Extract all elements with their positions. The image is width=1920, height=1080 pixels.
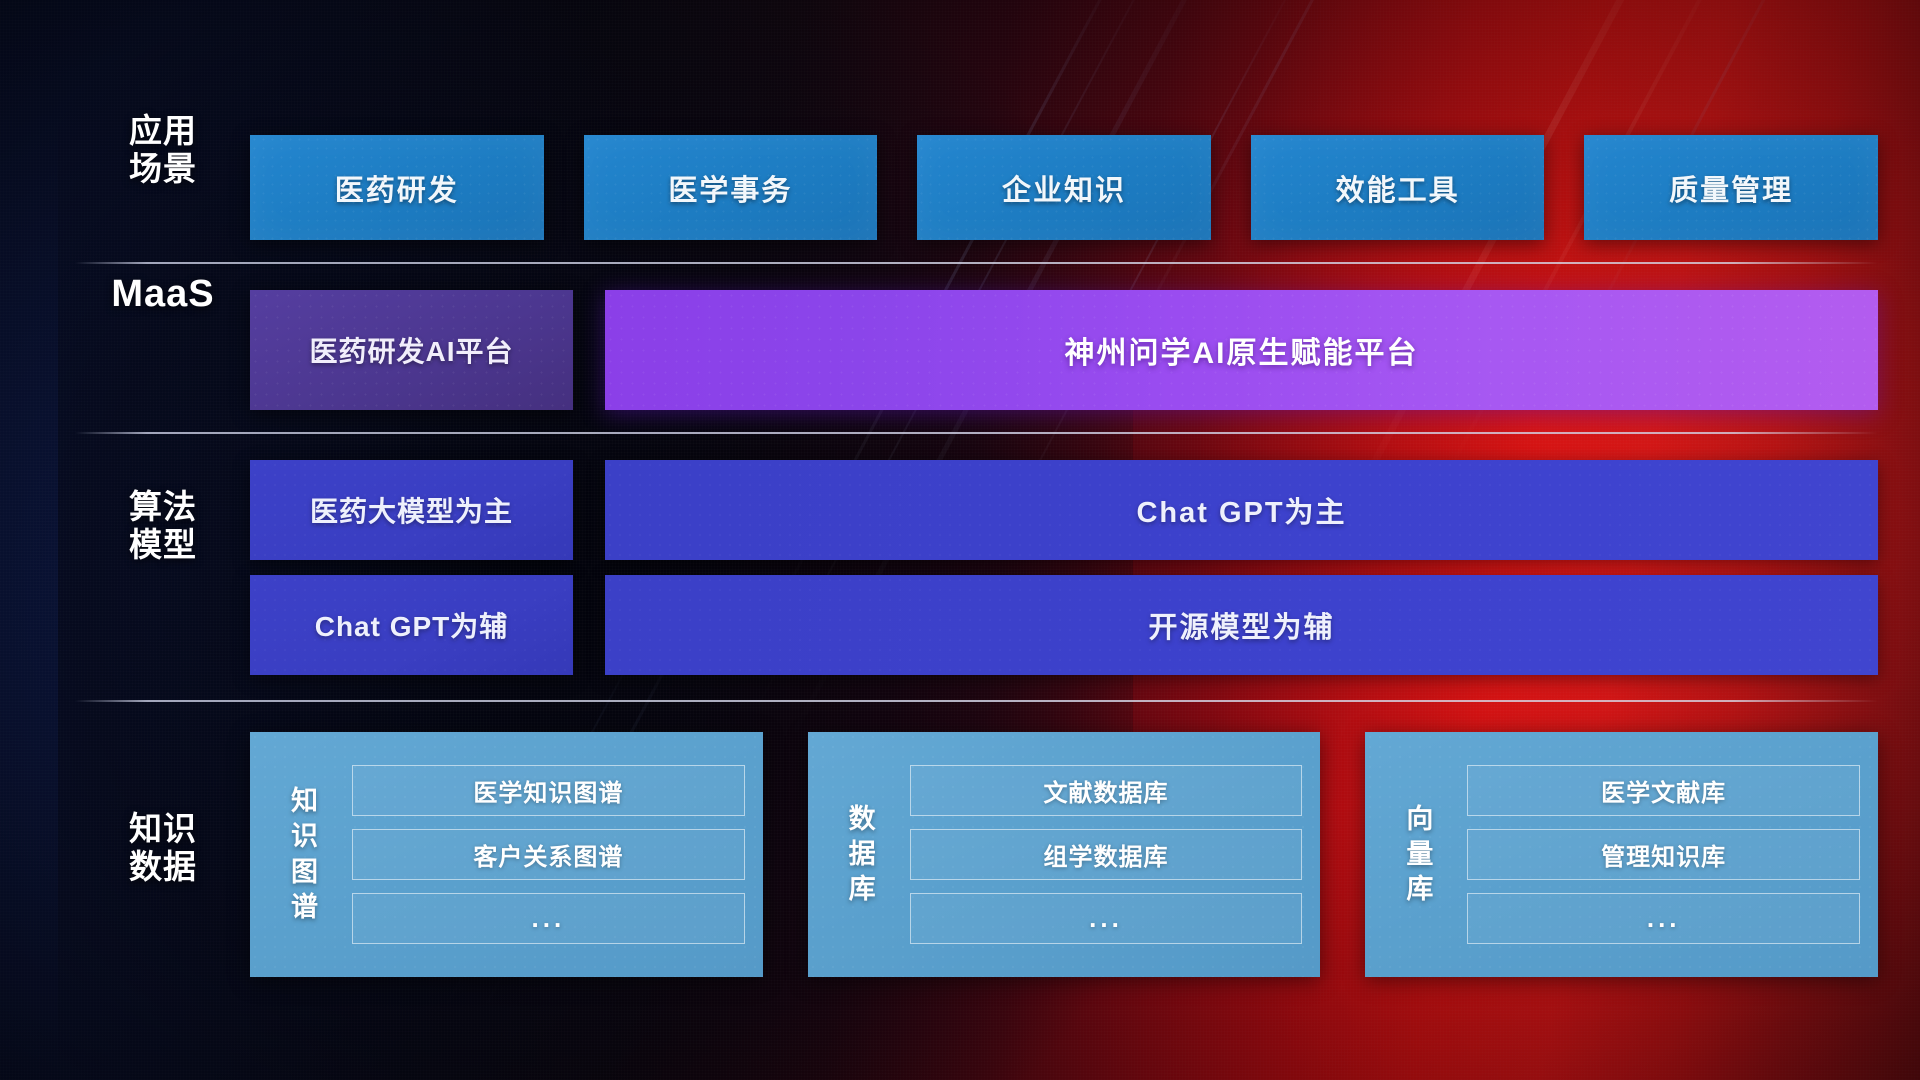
app-box-quality-management[interactable]: 质量管理 <box>1584 135 1878 240</box>
row-divider-1 <box>75 262 1878 264</box>
algo-box-chatgpt-secondary[interactable]: Chat GPT为辅 <box>250 575 573 675</box>
maas-box-pharma-ai-platform[interactable]: 医药研发AI平台 <box>250 290 573 410</box>
knowledge-panel-knowledge-graph: 知 识 图 谱 医学知识图谱 客户关系图谱 ... <box>250 732 763 977</box>
row-label-algorithm-models: 算法 模型 <box>78 488 248 565</box>
app-box-label: 效能工具 <box>1336 167 1460 209</box>
app-box-enterprise-knowledge[interactable]: 企业知识 <box>917 135 1211 240</box>
app-box-label: 医学事务 <box>668 167 792 209</box>
knowledge-item[interactable]: 文献数据库 <box>910 765 1303 816</box>
app-box-label: 质量管理 <box>1669 167 1793 209</box>
algo-box-label: 医药大模型为主 <box>310 490 513 530</box>
app-box-pharma-rnd[interactable]: 医药研发 <box>250 135 544 240</box>
app-box-efficiency-tools[interactable]: 效能工具 <box>1251 135 1545 240</box>
row-label-application-scenarios: 应用 场景 <box>78 112 248 189</box>
algo-box-chatgpt-primary[interactable]: Chat GPT为主 <box>605 460 1878 560</box>
row-label-knowledge-data: 知识 数据 <box>78 810 248 887</box>
knowledge-item-list: 文献数据库 组学数据库 ... <box>910 765 1303 944</box>
app-box-label: 医药研发 <box>335 167 459 209</box>
maas-box-shenzhou-wenxue-platform[interactable]: 神州问学AI原生赋能平台 <box>605 290 1878 410</box>
algo-box-label: Chat GPT为主 <box>1136 489 1346 531</box>
knowledge-panel-title: 知 识 图 谱 <box>274 784 336 924</box>
knowledge-item[interactable]: 客户关系图谱 <box>352 829 745 880</box>
knowledge-item-more[interactable]: ... <box>1467 893 1860 944</box>
algo-box-pharma-large-model-primary[interactable]: 医药大模型为主 <box>250 460 573 560</box>
row-label-maas: MaaS <box>78 272 248 316</box>
architecture-diagram: 应用 场景 医药研发 医学事务 企业知识 效能工具 质量管理 MaaS 医药研发… <box>0 0 1920 1080</box>
knowledge-item-list: 医学文献库 管理知识库 ... <box>1467 765 1860 944</box>
row-divider-3 <box>75 700 1878 702</box>
algorithm-models-row: 医药大模型为主 Chat GPT为主 Chat GPT为辅 开源模型为辅 <box>250 460 1878 675</box>
algo-box-label: 开源模型为辅 <box>1148 604 1334 646</box>
algorithm-line-primary: 医药大模型为主 Chat GPT为主 <box>250 460 1878 560</box>
maas-row: 医药研发AI平台 神州问学AI原生赋能平台 <box>250 290 1878 410</box>
application-scenarios-row: 医药研发 医学事务 企业知识 效能工具 质量管理 <box>250 135 1878 240</box>
knowledge-panel-title: 向 量 库 <box>1389 802 1451 907</box>
knowledge-item[interactable]: 管理知识库 <box>1467 829 1860 880</box>
knowledge-panel-database: 数 据 库 文献数据库 组学数据库 ... <box>808 732 1321 977</box>
knowledge-item-more[interactable]: ... <box>910 893 1303 944</box>
knowledge-item-more[interactable]: ... <box>352 893 745 944</box>
maas-box-label: 医药研发AI平台 <box>309 330 513 370</box>
knowledge-panel-title: 数 据 库 <box>832 802 894 907</box>
algorithm-line-secondary: Chat GPT为辅 开源模型为辅 <box>250 575 1878 675</box>
knowledge-panel-vector-store: 向 量 库 医学文献库 管理知识库 ... <box>1365 732 1878 977</box>
knowledge-item[interactable]: 医学文献库 <box>1467 765 1860 816</box>
knowledge-item[interactable]: 医学知识图谱 <box>352 765 745 816</box>
app-box-label: 企业知识 <box>1002 167 1126 209</box>
app-box-medical-affairs[interactable]: 医学事务 <box>584 135 878 240</box>
algo-box-label: Chat GPT为辅 <box>315 605 509 645</box>
algo-box-opensource-secondary[interactable]: 开源模型为辅 <box>605 575 1878 675</box>
row-divider-2 <box>75 432 1878 434</box>
maas-box-label: 神州问学AI原生赋能平台 <box>1065 328 1419 372</box>
knowledge-item-list: 医学知识图谱 客户关系图谱 ... <box>352 765 745 944</box>
knowledge-item[interactable]: 组学数据库 <box>910 829 1303 880</box>
knowledge-data-row: 知 识 图 谱 医学知识图谱 客户关系图谱 ... 数 据 库 文献数据库 组学… <box>250 732 1878 977</box>
